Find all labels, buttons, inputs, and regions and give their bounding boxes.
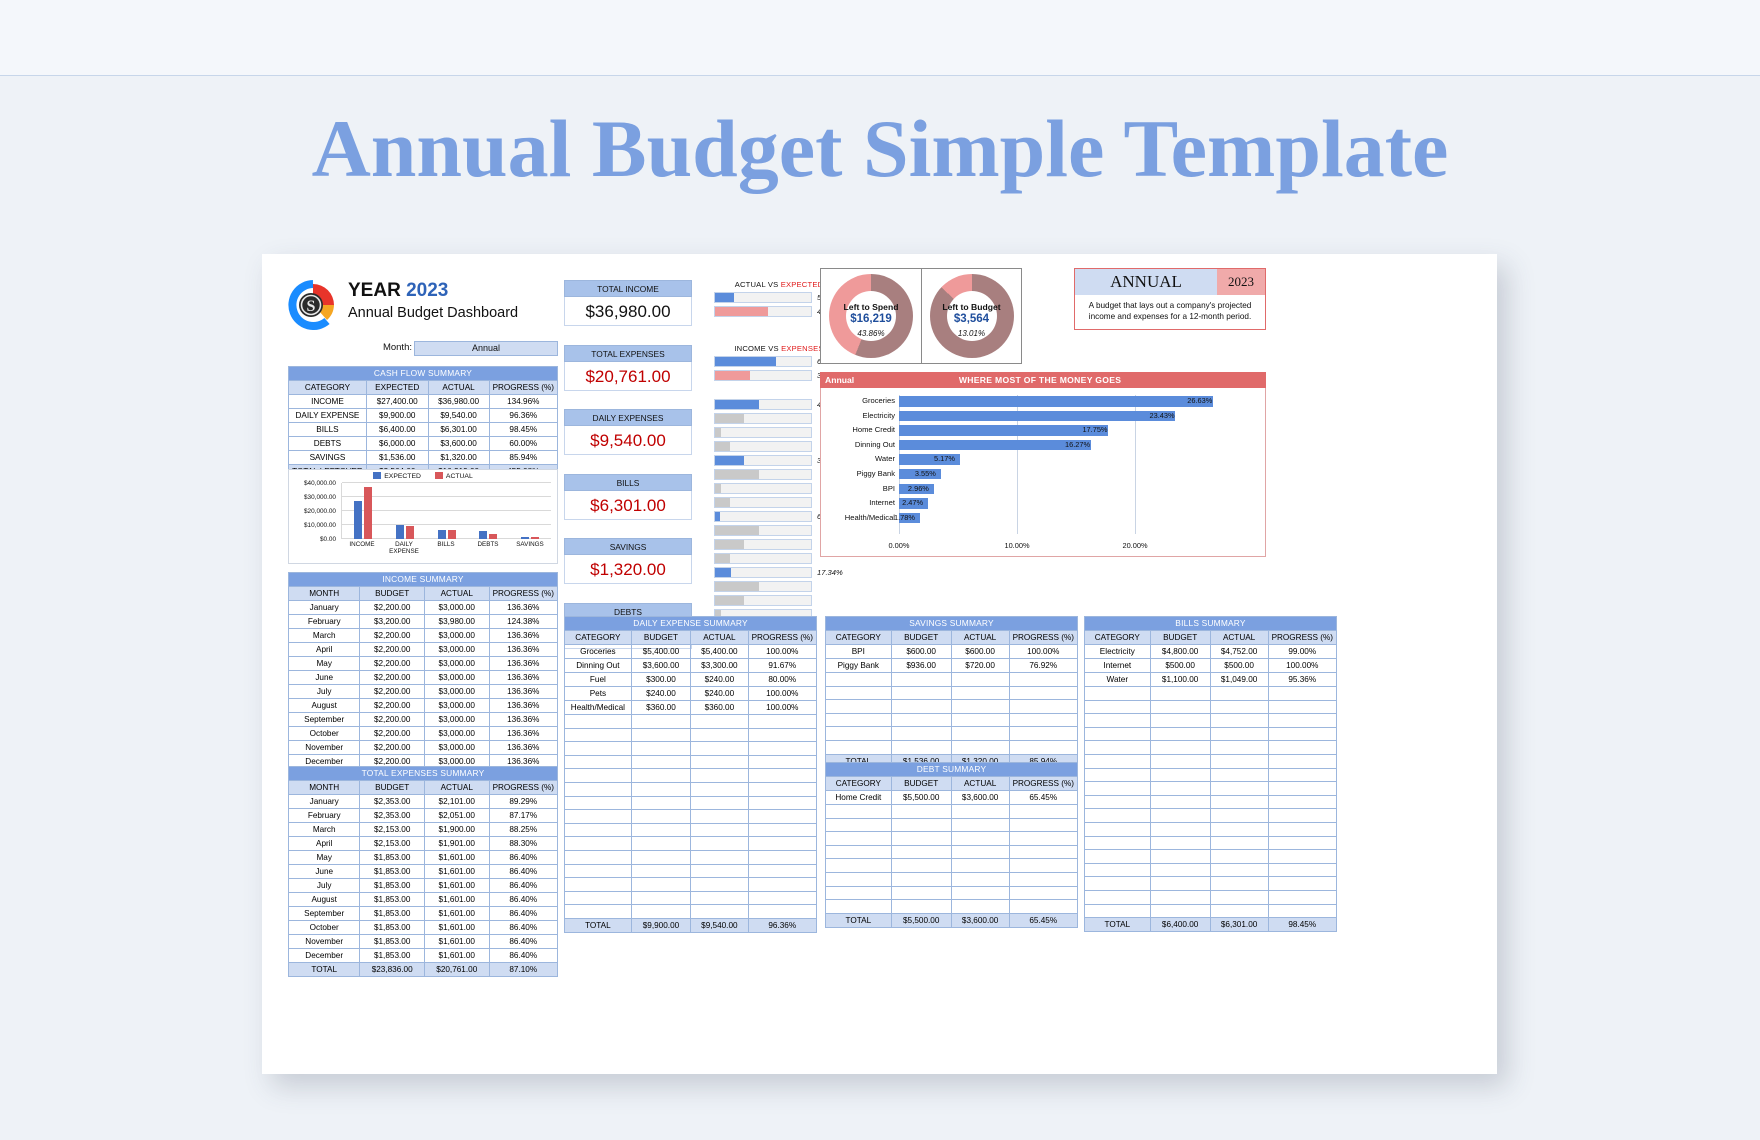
table-row[interactable]: June$2,200.00$3,000.00136.36% [289, 671, 558, 685]
table-cell [951, 832, 1009, 846]
table-cell: SAVINGS [289, 451, 367, 465]
table-cell [891, 673, 951, 687]
table-cell [1210, 850, 1268, 864]
table-cell: $2,200.00 [360, 643, 425, 657]
table-cell [1085, 714, 1151, 728]
table-row-empty[interactable] [1085, 795, 1337, 809]
kpi-label: DAILY EXPENSES [564, 409, 692, 426]
table-cell: $1,853.00 [360, 879, 425, 893]
kpi-label: TOTAL INCOME [564, 280, 692, 297]
period-label: Annual [820, 375, 854, 385]
bar-row: Internet2.47% [899, 497, 1253, 512]
table-cell [951, 818, 1009, 832]
table-row-empty[interactable] [826, 740, 1078, 754]
table-row-empty[interactable] [826, 886, 1078, 900]
bills-summary-table: BILLS SUMMARYCATEGORYBUDGETACTUALPROGRES… [1084, 616, 1337, 932]
bar-value-label: 3.55% [915, 469, 936, 480]
kpi-label: BILLS [564, 474, 692, 491]
annual-description: A budget that lays out a company's proje… [1075, 295, 1265, 322]
bar-row: Electricity23.43% [899, 410, 1253, 425]
table-row-empty[interactable] [565, 878, 817, 892]
table-cell [891, 900, 951, 914]
table-row[interactable]: November$2,200.00$3,000.00136.36% [289, 741, 558, 755]
table-row-empty[interactable] [826, 900, 1078, 914]
table-cell: $936.00 [891, 659, 951, 673]
table-cell: $1,853.00 [360, 851, 425, 865]
table-cell [1009, 832, 1077, 846]
progress-track [714, 469, 812, 480]
table-row-empty[interactable] [1085, 687, 1337, 701]
column-header: CATEGORY [565, 631, 632, 645]
bar-value-label: 5.17% [934, 454, 955, 465]
table-row[interactable]: February$2,353.00$2,051.0087.17% [289, 809, 558, 823]
progress-track [714, 441, 812, 452]
table-row-empty[interactable] [826, 700, 1078, 714]
table-cell [565, 864, 632, 878]
table-cell [1268, 890, 1336, 904]
y-tick-label: $0.00 [320, 536, 336, 543]
table-cell: November [289, 741, 360, 755]
progress-track [714, 370, 812, 381]
bar-value-label: 2.96% [908, 484, 929, 495]
table-cell: December [289, 949, 360, 963]
progress-track [714, 525, 812, 536]
table-title: TOTAL EXPENSES SUMMARY [289, 767, 558, 781]
table-row-empty[interactable] [826, 805, 1078, 819]
x-tick-label: 10.00% [1004, 541, 1029, 550]
bar-value-label: 16.27% [1065, 440, 1090, 451]
table-cell [826, 805, 892, 819]
table-cell [1150, 822, 1210, 836]
table-cell [565, 796, 632, 810]
bar-expected [521, 537, 529, 539]
kpi-card[interactable]: BILLS$6,301.00 [564, 474, 692, 520]
table-cell: July [289, 685, 360, 699]
bar-expected [354, 501, 362, 539]
table-row-empty[interactable] [826, 686, 1078, 700]
table-row[interactable]: Electricity$4,800.00$4,752.0099.00% [1085, 645, 1337, 659]
table-row[interactable]: May$2,200.00$3,000.00136.36% [289, 657, 558, 671]
column-header: EXPECTED [366, 381, 428, 395]
table-total-row: TOTAL$6,400.00$6,301.0098.45% [1085, 918, 1337, 932]
table-row-empty[interactable] [565, 755, 817, 769]
table-title: INCOME SUMMARY [289, 573, 558, 587]
table-cell: $3,600.00 [951, 791, 1009, 805]
progress-track [714, 427, 812, 438]
bar-row: Dinning Out16.27% [899, 439, 1253, 454]
table-row-empty[interactable] [826, 872, 1078, 886]
table-cell: 136.36% [489, 601, 557, 615]
table-cell: $3,600.00 [428, 437, 489, 451]
table-cell [826, 845, 892, 859]
table-row-empty[interactable] [565, 728, 817, 742]
bills-body: BILLS SUMMARYCATEGORYBUDGETACTUALPROGRES… [1085, 617, 1337, 932]
donut-cell: Left to Budget$3,56413.01% [921, 269, 1021, 363]
table-cell: May [289, 851, 360, 865]
table-cell [748, 891, 816, 905]
progress-track [714, 595, 812, 606]
table-cell [1085, 768, 1151, 782]
where-money-goes-x-axis: 0.00%10.00%20.00% [899, 541, 1253, 551]
table-row-empty[interactable] [1085, 809, 1337, 823]
table-cell [1150, 687, 1210, 701]
table-row[interactable]: Piggy Bank$936.00$720.0076.92% [826, 659, 1078, 673]
table-cell [691, 891, 748, 905]
table-cell: $1,536.00 [366, 451, 428, 465]
page-title: Annual Budget Simple Template [0, 108, 1760, 190]
table-cell: $1,853.00 [360, 865, 425, 879]
table-row[interactable]: March$2,153.00$1,900.0088.25% [289, 823, 558, 837]
table-cell: TOTAL [1085, 918, 1151, 932]
table-row[interactable]: Home Credit$5,500.00$3,600.0065.45% [826, 791, 1078, 805]
table-row[interactable]: July$1,853.00$1,601.0086.40% [289, 879, 558, 893]
table-row-empty[interactable] [565, 891, 817, 905]
bar-category-label: Internet [869, 498, 895, 507]
table-row[interactable]: November$1,853.00$1,601.0086.40% [289, 935, 558, 949]
table-cell: $23,836.00 [360, 963, 425, 977]
table-row-empty[interactable] [1085, 741, 1337, 755]
table-cell: $1,853.00 [360, 907, 425, 921]
table-row-empty[interactable] [1085, 904, 1337, 918]
x-tick-label: 0.00% [889, 541, 910, 550]
table-row[interactable]: January$2,353.00$2,101.0089.29% [289, 795, 558, 809]
month-value-input[interactable]: Annual [414, 341, 558, 356]
table-cell [748, 823, 816, 837]
table-row-empty[interactable] [565, 782, 817, 796]
year-number: 2023 [406, 280, 448, 301]
table-cell [565, 782, 632, 796]
table-row-empty[interactable] [565, 837, 817, 851]
table-cell [951, 673, 1009, 687]
table-row-empty[interactable] [1085, 782, 1337, 796]
table-title: DEBT SUMMARY [826, 763, 1078, 777]
column-header: CATEGORY [1085, 631, 1151, 645]
progress-bar-row [714, 594, 844, 606]
table-cell: 86.40% [489, 851, 557, 865]
table-cell: $9,900.00 [366, 409, 428, 423]
table-cell [826, 686, 892, 700]
table-row[interactable]: March$2,200.00$3,000.00136.36% [289, 629, 558, 643]
table-row[interactable]: August$1,853.00$1,601.0086.40% [289, 893, 558, 907]
table-row[interactable]: Water$1,100.00$1,049.0095.36% [1085, 673, 1337, 687]
table-row[interactable]: April$2,153.00$1,901.0088.30% [289, 837, 558, 851]
kpi-value: $20,761.00 [564, 362, 692, 391]
table-title: SAVINGS SUMMARY [826, 617, 1078, 631]
table-cell: Piggy Bank [826, 659, 892, 673]
table-row-empty[interactable] [1085, 836, 1337, 850]
progress-track [714, 356, 812, 367]
table-cell [1268, 863, 1336, 877]
table-cell [691, 755, 748, 769]
table-row[interactable]: June$1,853.00$1,601.0086.40% [289, 865, 558, 879]
table-cell: $3,000.00 [424, 629, 489, 643]
table-row-empty[interactable] [826, 832, 1078, 846]
table-cell: $2,200.00 [360, 657, 425, 671]
table-row-empty[interactable] [565, 796, 817, 810]
table-cell: $3,300.00 [691, 659, 748, 673]
table-cell [951, 886, 1009, 900]
table-row[interactable]: BPI$600.00$600.00100.00% [826, 645, 1078, 659]
table-cell: $500.00 [1210, 659, 1268, 673]
chart-legend: EXPECTED ACTUAL [289, 472, 557, 480]
bar-row: Groceries26.63% [899, 395, 1253, 410]
table-cell: 98.45% [1268, 918, 1336, 932]
table-cell [826, 673, 892, 687]
x-tick-label: DEBTS [468, 541, 508, 548]
y-tick-label: $20,000.00 [304, 508, 336, 515]
table-cell: $3,000.00 [424, 727, 489, 741]
table-cell: $3,000.00 [424, 671, 489, 685]
table-cell: October [289, 727, 360, 741]
table-cell [691, 796, 748, 810]
table-cell: 136.36% [489, 741, 557, 755]
table-row[interactable]: DEBTS$6,000.00$3,600.0060.00% [289, 437, 558, 451]
bar-actual [489, 534, 497, 539]
income-summary-table: INCOME SUMMARYMONTHBUDGETACTUALPROGRESS … [288, 572, 558, 783]
table-cell [951, 686, 1009, 700]
table-cell [631, 823, 690, 837]
debt-body: DEBT SUMMARYCATEGORYBUDGETACTUALPROGRESS… [826, 763, 1078, 928]
table-row-empty[interactable] [1085, 877, 1337, 891]
table-cell [826, 886, 892, 900]
table-cell: $2,200.00 [360, 699, 425, 713]
table-cell: January [289, 601, 360, 615]
table-row-empty[interactable] [826, 713, 1078, 727]
y-tick-label: $40,000.00 [304, 480, 336, 487]
table-row[interactable]: Health/Medical$360.00$360.00100.00% [565, 701, 817, 715]
table-row[interactable]: Pets$240.00$240.00100.00% [565, 687, 817, 701]
table-cell [1268, 795, 1336, 809]
table-cell [1150, 836, 1210, 850]
table-cell [891, 686, 951, 700]
table-cell: $5,400.00 [631, 645, 690, 659]
table-row[interactable]: September$2,200.00$3,000.00136.36% [289, 713, 558, 727]
table-cell: 86.40% [489, 935, 557, 949]
table-cell [1085, 687, 1151, 701]
table-row[interactable]: Groceries$5,400.00$5,400.00100.00% [565, 645, 817, 659]
table-total-row: TOTAL$9,900.00$9,540.0096.36% [565, 918, 817, 932]
column-header: ACTUAL [1210, 631, 1268, 645]
table-row-empty[interactable] [565, 715, 817, 729]
where-money-goes-body: Groceries26.63%Electricity23.43%Home Cre… [820, 388, 1266, 557]
table-row[interactable]: September$1,853.00$1,601.0086.40% [289, 907, 558, 921]
table-row-empty[interactable] [565, 864, 817, 878]
donut-cell: Left to Spend$16,21943.86% [821, 269, 921, 363]
table-cell [891, 727, 951, 741]
table-cell [1210, 904, 1268, 918]
table-row[interactable]: Dinning Out$3,600.00$3,300.0091.67% [565, 659, 817, 673]
bar-row: BPI2.96% [899, 483, 1253, 498]
table-cell: June [289, 671, 360, 685]
table-cell [1085, 877, 1151, 891]
table-cell: $1,601.00 [424, 879, 489, 893]
table-cell: 87.17% [489, 809, 557, 823]
table-row[interactable]: July$2,200.00$3,000.00136.36% [289, 685, 558, 699]
table-cell [1268, 809, 1336, 823]
table-cell [631, 850, 690, 864]
table-cell [891, 740, 951, 754]
table-row-empty[interactable] [826, 727, 1078, 741]
table-cell [1009, 740, 1077, 754]
table-row[interactable]: Fuel$300.00$240.0080.00% [565, 673, 817, 687]
table-cell: 100.00% [748, 687, 816, 701]
table-row-empty[interactable] [826, 673, 1078, 687]
table-cell [748, 837, 816, 851]
kpi-card[interactable]: TOTAL EXPENSES$20,761.00 [564, 345, 692, 391]
table-cell: 60.00% [489, 437, 557, 451]
table-cell [1150, 741, 1210, 755]
table-cell: $360.00 [691, 701, 748, 715]
table-row-empty[interactable] [565, 742, 817, 756]
table-cell [891, 700, 951, 714]
table-cell: $2,051.00 [424, 809, 489, 823]
table-cell [1009, 859, 1077, 873]
table-row-empty[interactable] [565, 823, 817, 837]
table-cell: September [289, 713, 360, 727]
bar-actual [364, 487, 372, 539]
table-row-empty[interactable] [1085, 700, 1337, 714]
table-row-empty[interactable] [1085, 863, 1337, 877]
table-cell: BPI [826, 645, 892, 659]
table-cell: $6,000.00 [366, 437, 428, 451]
cash-flow-chart: EXPECTED ACTUAL $0.00$10,000.00$20,000.0… [288, 469, 558, 564]
table-cell [565, 810, 632, 824]
cash-flow-plot-area [341, 483, 551, 539]
table-row-empty[interactable] [1085, 768, 1337, 782]
table-cell: $3,600.00 [631, 659, 690, 673]
table-row-empty[interactable] [565, 810, 817, 824]
kpi-card[interactable]: SAVINGS$1,320.00 [564, 538, 692, 584]
table-row-empty[interactable] [826, 859, 1078, 873]
column-header: PROGRESS (%) [1009, 631, 1077, 645]
table-cell: $3,000.00 [424, 713, 489, 727]
table-cell: INCOME [289, 395, 367, 409]
donut-value: $16,219 [821, 313, 921, 325]
table-cell [1150, 904, 1210, 918]
table-cell [748, 810, 816, 824]
table-row[interactable]: January$2,200.00$3,000.00136.36% [289, 601, 558, 615]
column-header: ACTUAL [951, 777, 1009, 791]
table-row-empty[interactable] [565, 769, 817, 783]
table-row[interactable]: Internet$500.00$500.00100.00% [1085, 659, 1337, 673]
table-cell [691, 905, 748, 919]
table-cell: $5,400.00 [691, 645, 748, 659]
table-row[interactable]: October$1,853.00$1,601.0086.40% [289, 921, 558, 935]
cash-flow-y-axis: $0.00$10,000.00$20,000.00$30,000.00$40,0… [289, 483, 339, 539]
budget-logo-icon: S [288, 280, 338, 330]
table-cell: $6,301.00 [1210, 918, 1268, 932]
table-cell: Internet [1085, 659, 1151, 673]
table-cell [565, 905, 632, 919]
table-cell [1085, 700, 1151, 714]
table-cell [826, 713, 892, 727]
table-row[interactable]: February$3,200.00$3,980.00124.38% [289, 615, 558, 629]
table-row-empty[interactable] [1085, 727, 1337, 741]
table-cell: $3,000.00 [424, 601, 489, 615]
table-row-empty[interactable] [826, 845, 1078, 859]
table-cell: $2,200.00 [360, 671, 425, 685]
table-cell [1009, 805, 1077, 819]
table-cell: $3,000.00 [424, 699, 489, 713]
table-row[interactable]: August$2,200.00$3,000.00136.36% [289, 699, 558, 713]
table-cell: August [289, 893, 360, 907]
table-cell [631, 905, 690, 919]
table-cell: 91.67% [748, 659, 816, 673]
table-row-empty[interactable] [565, 905, 817, 919]
table-row-empty[interactable] [1085, 714, 1337, 728]
table-row[interactable]: December$1,853.00$1,601.0086.40% [289, 949, 558, 963]
table-row-empty[interactable] [826, 818, 1078, 832]
table-cell: TOTAL [826, 913, 892, 927]
table-cell [1009, 673, 1077, 687]
table-cell: $240.00 [691, 687, 748, 701]
table-cell [748, 769, 816, 783]
table-cell: $1,100.00 [1150, 673, 1210, 687]
table-total-row: TOTAL$5,500.00$3,600.0065.45% [826, 913, 1078, 927]
table-row[interactable]: April$2,200.00$3,000.00136.36% [289, 643, 558, 657]
table-cell [1268, 850, 1336, 864]
table-cell: 87.10% [489, 963, 557, 977]
table-row[interactable]: SAVINGS$1,536.00$1,320.0085.94% [289, 451, 558, 465]
table-cell: January [289, 795, 360, 809]
annual-title: ANNUAL [1075, 269, 1217, 295]
table-cell: 86.40% [489, 907, 557, 921]
table-cell: $6,400.00 [366, 423, 428, 437]
kpi-card[interactable]: DAILY EXPENSES$9,540.00 [564, 409, 692, 455]
table-cell [565, 878, 632, 892]
column-header: BUDGET [891, 631, 951, 645]
table-row-empty[interactable] [1085, 850, 1337, 864]
table-cell: 136.36% [489, 671, 557, 685]
table-cell [1210, 687, 1268, 701]
table-cell [1210, 863, 1268, 877]
table-cell: $20,761.00 [424, 963, 489, 977]
kpi-card[interactable]: TOTAL INCOME$36,980.00 [564, 280, 692, 326]
table-row[interactable]: BILLS$6,400.00$6,301.0098.45% [289, 423, 558, 437]
table-total-row: TOTAL$23,836.00$20,761.0087.10% [289, 963, 558, 977]
table-cell [1268, 727, 1336, 741]
table-cell [951, 872, 1009, 886]
table-cell: $5,500.00 [891, 913, 951, 927]
table-row[interactable]: May$1,853.00$1,601.0086.40% [289, 851, 558, 865]
bar-category-label: Piggy Bank [857, 469, 895, 478]
table-cell: June [289, 865, 360, 879]
table-row-empty[interactable] [1085, 754, 1337, 768]
table-row-empty[interactable] [1085, 890, 1337, 904]
table-cell [565, 823, 632, 837]
cash-flow-body: CASH FLOW SUMMARYCATEGORYEXPECTEDACTUALP… [289, 367, 558, 479]
table-row-empty[interactable] [1085, 822, 1337, 836]
year-word: YEAR [348, 280, 401, 301]
table-cell: 100.00% [748, 701, 816, 715]
table-cell: March [289, 629, 360, 643]
table-cell: $36,980.00 [428, 395, 489, 409]
table-row[interactable]: INCOME$27,400.00$36,980.00134.96% [289, 395, 558, 409]
table-cell [826, 727, 892, 741]
savings-body: SAVINGS SUMMARYCATEGORYBUDGETACTUALPROGR… [826, 617, 1078, 769]
table-cell [891, 872, 951, 886]
table-row-empty[interactable] [565, 850, 817, 864]
table-cell: August [289, 699, 360, 713]
table-row[interactable]: October$2,200.00$3,000.00136.36% [289, 727, 558, 741]
progress-bar-row: 17.34% [714, 566, 844, 578]
kpi-label: TOTAL EXPENSES [564, 345, 692, 362]
progress-track [714, 567, 812, 578]
table-row[interactable]: DAILY EXPENSE$9,900.00$9,540.0096.36% [289, 409, 558, 423]
donut-percent: 13.01% [922, 329, 1021, 338]
table-cell: 136.36% [489, 699, 557, 713]
bar [899, 411, 1175, 422]
